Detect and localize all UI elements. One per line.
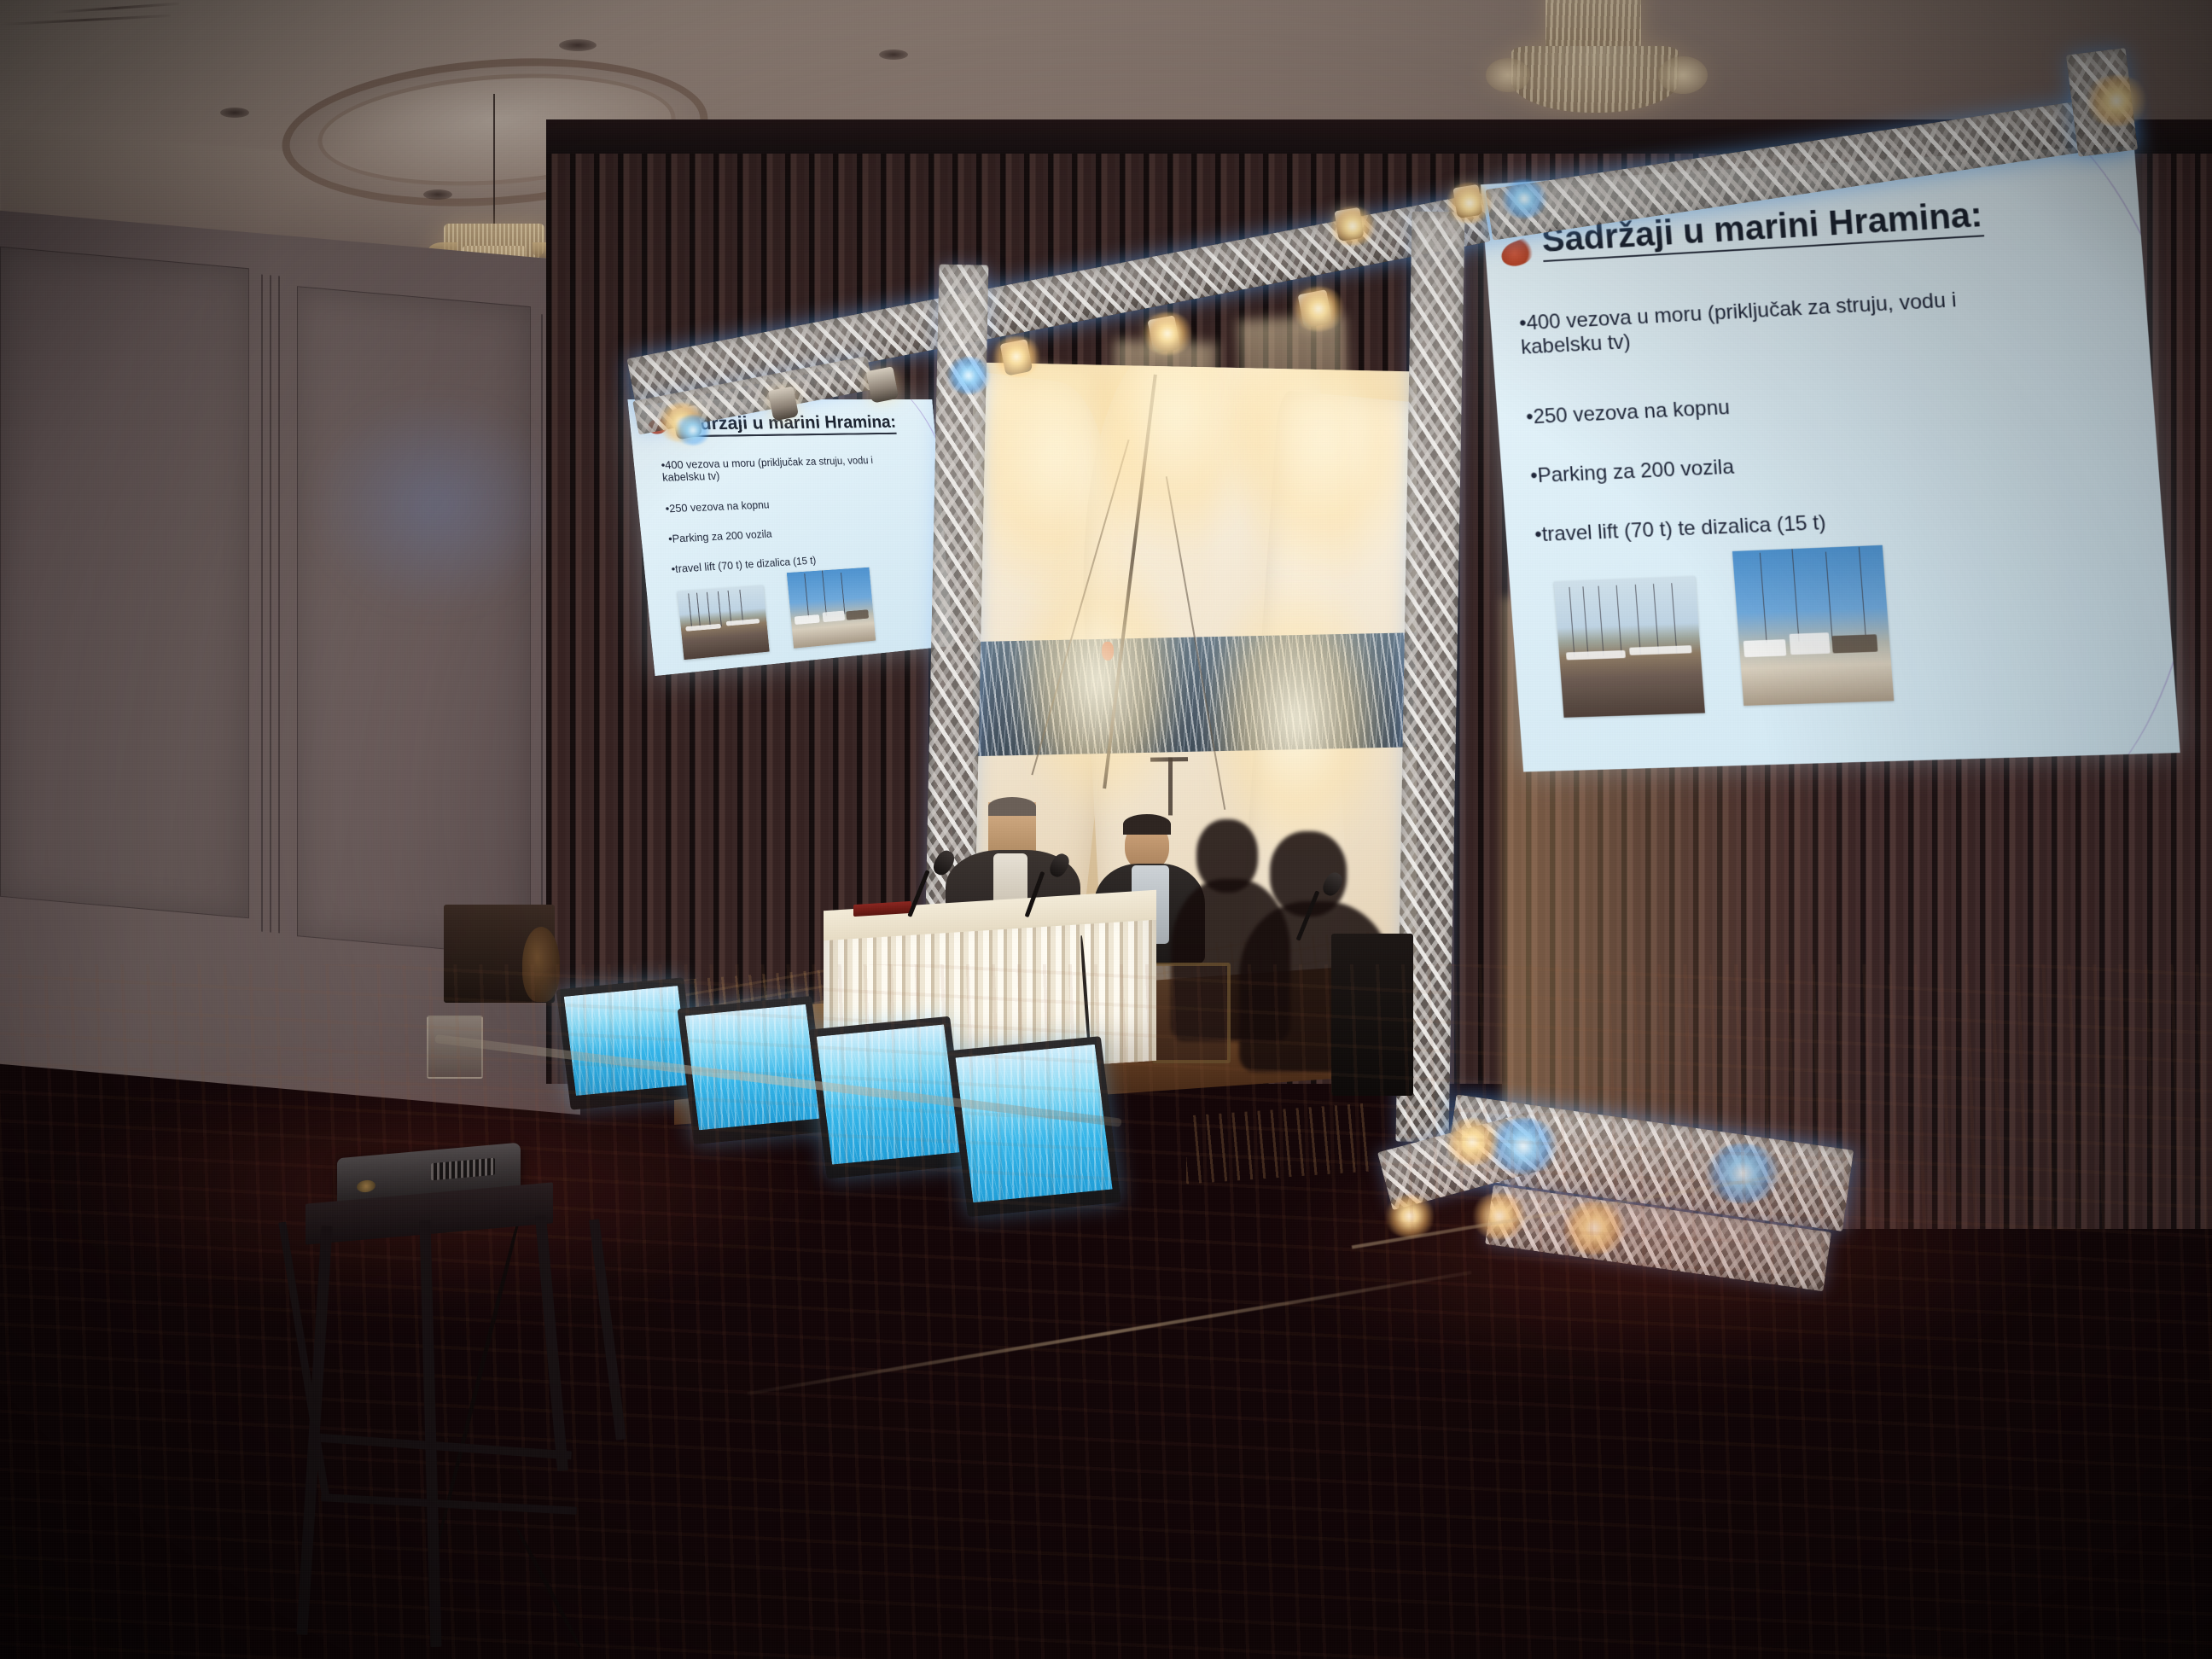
- chandelier-cord: [493, 94, 495, 230]
- marina-photo-1: [677, 585, 769, 660]
- light-beam: [1104, 340, 1217, 642]
- lamp-glow-blue: [1500, 179, 1548, 218]
- ceiling-downlight: [220, 108, 249, 118]
- right-projection-screen[interactable]: Sadržaji u marini Hramina: •400 vezova u…: [1481, 144, 2180, 772]
- marina-photo-1: [1554, 576, 1705, 717]
- carpet-warm-light-pool: [1280, 1109, 2048, 1382]
- par-can-light: [866, 366, 899, 403]
- presentation-hall-photo: Sadržaji u marini Hramina: •400 vezova u…: [0, 0, 2212, 1659]
- marina-photo-2: [787, 568, 876, 649]
- marina-photo-2: [1732, 544, 1895, 706]
- lamp-glow: [2082, 75, 2151, 126]
- speaker-left-head: [988, 802, 1036, 857]
- lamp-glow: [1328, 207, 1377, 246]
- chandelier-right: [1481, 0, 1711, 137]
- lamp-glow-blue: [946, 357, 992, 394]
- light-beam: [1238, 315, 1361, 627]
- wall-blue-light-spill: [307, 393, 563, 614]
- lamp-glow-blue: [674, 415, 712, 445]
- ceiling-downlight: [879, 49, 908, 60]
- ceiling-downlight: [559, 39, 597, 51]
- lamp-glow: [1444, 183, 1495, 224]
- ceiling-downlight: [423, 189, 452, 200]
